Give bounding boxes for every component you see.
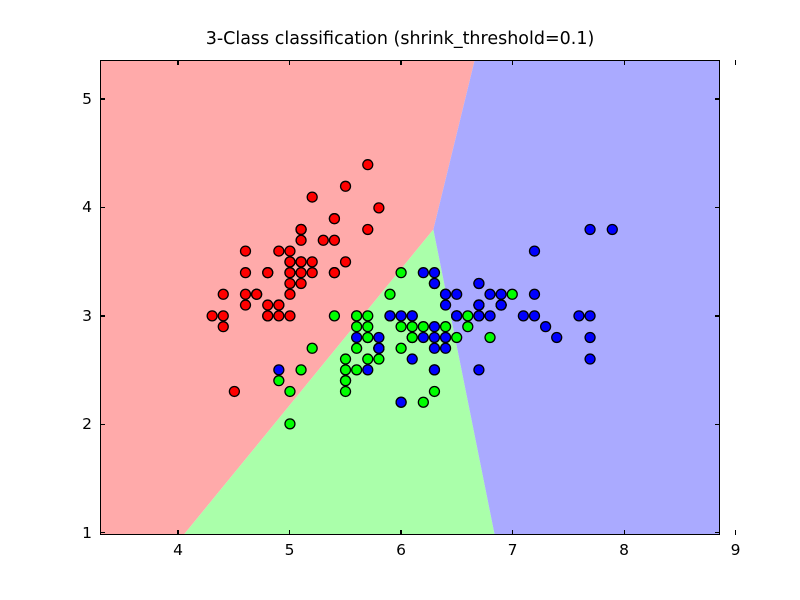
data-point	[329, 268, 339, 278]
y-tick-mark	[100, 315, 105, 316]
data-point	[407, 332, 417, 342]
data-point	[285, 311, 295, 321]
data-point	[307, 257, 317, 267]
data-point	[263, 300, 273, 310]
data-point	[307, 268, 317, 278]
data-point	[530, 311, 540, 321]
data-point	[207, 311, 217, 321]
x-tick-mark-top	[400, 60, 401, 65]
matplotlib-figure: 3-Class classification (shrink_threshold…	[0, 0, 800, 600]
data-point	[285, 257, 295, 267]
y-tick-label: 3	[52, 307, 92, 325]
data-point	[441, 332, 451, 342]
data-point	[585, 311, 595, 321]
data-point	[363, 160, 373, 170]
data-point	[352, 343, 362, 353]
data-point	[452, 289, 462, 299]
data-point	[452, 311, 462, 321]
data-point	[285, 278, 295, 288]
data-point	[385, 311, 395, 321]
x-tick-mark	[624, 530, 625, 535]
x-tick-mark	[289, 530, 290, 535]
data-point	[585, 332, 595, 342]
x-tick-label: 5	[270, 541, 310, 559]
data-point	[441, 343, 451, 353]
data-point	[396, 322, 406, 332]
data-point	[407, 322, 417, 332]
data-point	[585, 354, 595, 364]
data-point	[496, 289, 506, 299]
x-tick-mark-top	[177, 60, 178, 65]
data-point	[307, 192, 317, 202]
data-point	[363, 224, 373, 234]
data-point	[274, 311, 284, 321]
x-tick-label: 8	[604, 541, 644, 559]
data-point	[341, 365, 351, 375]
y-tick-label: 1	[52, 524, 92, 542]
x-tick-label: 7	[493, 541, 533, 559]
x-tick-mark	[400, 530, 401, 535]
data-point	[429, 386, 439, 396]
data-point	[296, 235, 306, 245]
data-point	[296, 224, 306, 234]
data-point	[585, 224, 595, 234]
data-point	[496, 300, 506, 310]
data-point	[429, 278, 439, 288]
data-point	[252, 289, 262, 299]
data-point	[307, 343, 317, 353]
data-point	[552, 332, 562, 342]
data-point	[263, 311, 273, 321]
data-point	[485, 332, 495, 342]
data-point	[530, 246, 540, 256]
data-point	[352, 365, 362, 375]
data-point	[441, 300, 451, 310]
data-point	[418, 397, 428, 407]
data-point	[229, 386, 239, 396]
data-point	[341, 376, 351, 386]
x-tick-mark	[512, 530, 513, 535]
data-point	[363, 332, 373, 342]
data-point	[352, 322, 362, 332]
data-point	[474, 300, 484, 310]
data-point	[474, 278, 484, 288]
data-point	[518, 311, 528, 321]
y-tick-mark-right	[715, 98, 720, 99]
data-point	[274, 246, 284, 256]
scatter-series-class_1	[274, 268, 517, 429]
y-tick-label: 5	[52, 90, 92, 108]
data-point	[285, 268, 295, 278]
data-point	[396, 268, 406, 278]
data-point	[363, 322, 373, 332]
data-point	[296, 257, 306, 267]
data-point	[241, 300, 251, 310]
x-tick-mark-top	[289, 60, 290, 65]
data-point	[285, 419, 295, 429]
data-point	[396, 397, 406, 407]
data-point	[452, 332, 462, 342]
scatter-points-layer	[101, 61, 719, 534]
y-tick-mark-right	[715, 424, 720, 425]
data-point	[329, 311, 339, 321]
data-point	[374, 354, 384, 364]
plot-axes	[100, 60, 720, 535]
data-point	[274, 376, 284, 386]
data-point	[363, 311, 373, 321]
data-point	[352, 332, 362, 342]
data-point	[463, 322, 473, 332]
data-point	[352, 311, 362, 321]
data-point	[530, 289, 540, 299]
scatter-series-class_0	[207, 160, 384, 397]
data-point	[274, 365, 284, 375]
data-point	[429, 268, 439, 278]
data-point	[241, 289, 251, 299]
x-tick-label: 4	[158, 541, 198, 559]
x-tick-label: 9	[716, 541, 756, 559]
y-tick-label: 2	[52, 415, 92, 433]
data-point	[296, 365, 306, 375]
y-tick-mark	[100, 532, 105, 533]
data-point	[341, 181, 351, 191]
data-point	[363, 354, 373, 364]
data-point	[218, 322, 228, 332]
plot-title: 3-Class classification (shrink_threshold…	[0, 29, 800, 49]
x-tick-mark-top	[624, 60, 625, 65]
data-point	[485, 289, 495, 299]
scatter-series-class_2	[274, 224, 617, 407]
data-point	[396, 343, 406, 353]
data-point	[341, 354, 351, 364]
data-point	[218, 311, 228, 321]
data-point	[574, 311, 584, 321]
data-point	[407, 354, 417, 364]
data-point	[418, 322, 428, 332]
data-point	[429, 322, 439, 332]
data-point	[485, 311, 495, 321]
data-point	[296, 268, 306, 278]
data-point	[374, 343, 384, 353]
data-point	[218, 289, 228, 299]
data-point	[374, 203, 384, 213]
data-point	[285, 289, 295, 299]
data-point	[341, 386, 351, 396]
y-tick-mark	[100, 98, 105, 99]
y-tick-mark-right	[715, 532, 720, 533]
data-point	[263, 268, 273, 278]
data-point	[441, 289, 451, 299]
data-point	[418, 332, 428, 342]
data-point	[363, 365, 373, 375]
data-point	[418, 268, 428, 278]
y-tick-label: 4	[52, 198, 92, 216]
data-point	[241, 246, 251, 256]
data-point	[329, 214, 339, 224]
data-point	[241, 268, 251, 278]
x-tick-mark-top	[512, 60, 513, 65]
data-point	[474, 311, 484, 321]
y-tick-mark	[100, 207, 105, 208]
data-point	[396, 311, 406, 321]
data-point	[441, 322, 451, 332]
data-point	[407, 311, 417, 321]
data-point	[274, 300, 284, 310]
x-tick-mark	[177, 530, 178, 535]
data-point	[429, 365, 439, 375]
data-point	[429, 343, 439, 353]
data-point	[285, 246, 295, 256]
data-point	[329, 235, 339, 245]
x-tick-mark-top	[735, 60, 736, 65]
y-tick-mark	[100, 424, 105, 425]
data-point	[463, 311, 473, 321]
data-point	[429, 332, 439, 342]
data-point	[541, 322, 551, 332]
data-point	[607, 224, 617, 234]
data-point	[341, 257, 351, 267]
data-point	[374, 332, 384, 342]
data-point	[474, 365, 484, 375]
y-tick-mark-right	[715, 207, 720, 208]
data-point	[285, 386, 295, 396]
y-tick-mark-right	[715, 315, 720, 316]
data-point	[507, 289, 517, 299]
data-point	[296, 278, 306, 288]
data-point	[318, 235, 328, 245]
data-point	[385, 289, 395, 299]
x-tick-mark	[735, 530, 736, 535]
x-tick-label: 6	[381, 541, 421, 559]
